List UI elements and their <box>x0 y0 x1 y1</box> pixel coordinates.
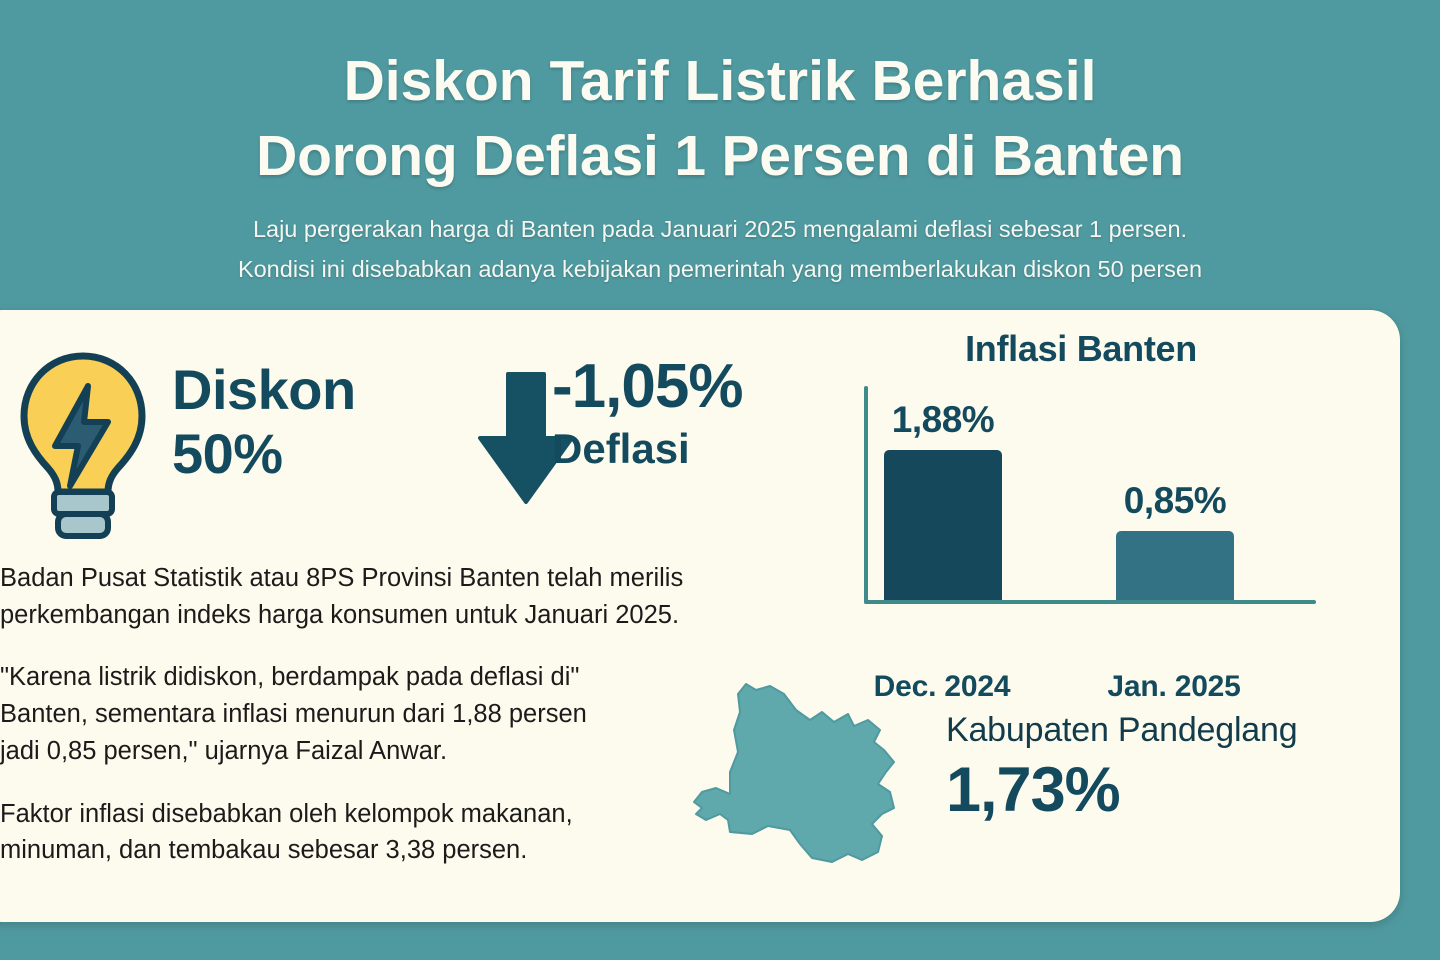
paragraph-2-line-1: "Karena listrik didiskon, berdampak pada… <box>0 659 700 696</box>
banten-map-icon <box>672 668 920 868</box>
chart-plot-area: 1,88% 0,85% Dec. 2024 Jan. 2025 <box>846 386 1316 604</box>
bar-value-jan-2025: 0,85% <box>1124 480 1226 522</box>
headline-stats-row: Diskon 50% -1,05% Deflasi <box>0 338 790 550</box>
discount-label: Diskon <box>172 358 356 422</box>
paragraph-1-line-1: Badan Pusat Statistik atau 8PS Provinsi … <box>0 560 700 597</box>
page-title: Diskon Tarif Listrik Berhasil Dorong Def… <box>60 44 1380 194</box>
inflation-bar-chart: Inflasi Banten 1,88% 0,85% Dec. 2024 Jan… <box>846 328 1316 658</box>
deflation-label: Deflasi <box>552 424 742 474</box>
bar-group-jan-2025: 0,85% <box>1116 531 1234 600</box>
chart-title: Inflasi Banten <box>846 328 1316 370</box>
bar-group-dec-2024: 1,88% <box>884 450 1002 600</box>
deflation-value: -1,05% <box>552 354 742 420</box>
region-value: 1,73% <box>946 757 1366 823</box>
paragraph-2-line-3: jadi 0,85 persen," ujarnya Faizal Anwar. <box>0 733 700 770</box>
bar-label-jan-2025: Jan. 2025 <box>1074 670 1274 704</box>
paragraph-3-line-2: minuman, dan tembakau sebesar 3,38 perse… <box>0 832 700 869</box>
deflation-stat: -1,05% Deflasi <box>552 354 742 474</box>
content-card: Diskon 50% -1,05% Deflasi Badan Pusat St… <box>0 310 1400 922</box>
paragraph-3-line-1: Faktor inflasi disebabkan oleh kelompok … <box>0 796 700 833</box>
chart-y-axis <box>864 386 868 604</box>
subtitle-line-2: Kondisi ini disebabkan adanya kebijakan … <box>60 250 1380 289</box>
subtitle-line-1: Laju pergerakan harga di Banten pada Jan… <box>60 210 1380 249</box>
bar-value-dec-2024: 1,88% <box>892 399 994 441</box>
paragraph-2-line-2: Banten, sementara inflasi menurun dari 1… <box>0 696 700 733</box>
paragraph-3: Faktor inflasi disebabkan oleh kelompok … <box>0 796 700 869</box>
article-body: Badan Pusat Statistik atau 8PS Provinsi … <box>0 560 700 869</box>
bar-jan-2025 <box>1116 531 1234 600</box>
paragraph-2-quote: "Karena listrik didiskon, berdampak pada… <box>0 659 700 769</box>
lightbulb-icon <box>8 350 158 542</box>
discount-value: 50% <box>172 422 356 486</box>
region-stat: Kabupaten Pandeglang 1,73% <box>946 712 1366 824</box>
bar-dec-2024 <box>884 450 1002 600</box>
content-card-inner: Diskon 50% -1,05% Deflasi Badan Pusat St… <box>0 310 1400 922</box>
headline-line-2: Dorong Deflasi 1 Persen di Banten <box>60 119 1380 194</box>
chart-x-axis <box>864 600 1316 604</box>
paragraph-1-line-2: perkembangan indeks harga konsumen untuk… <box>0 597 700 634</box>
infographic-header: Diskon Tarif Listrik Berhasil Dorong Def… <box>0 0 1440 310</box>
discount-stat: Diskon 50% <box>172 358 356 486</box>
paragraph-1: Badan Pusat Statistik atau 8PS Provinsi … <box>0 560 700 633</box>
page-subtitle: Laju pergerakan harga di Banten pada Jan… <box>60 210 1380 289</box>
headline-line-1: Diskon Tarif Listrik Berhasil <box>60 44 1380 119</box>
region-name: Kabupaten Pandeglang <box>946 712 1366 749</box>
